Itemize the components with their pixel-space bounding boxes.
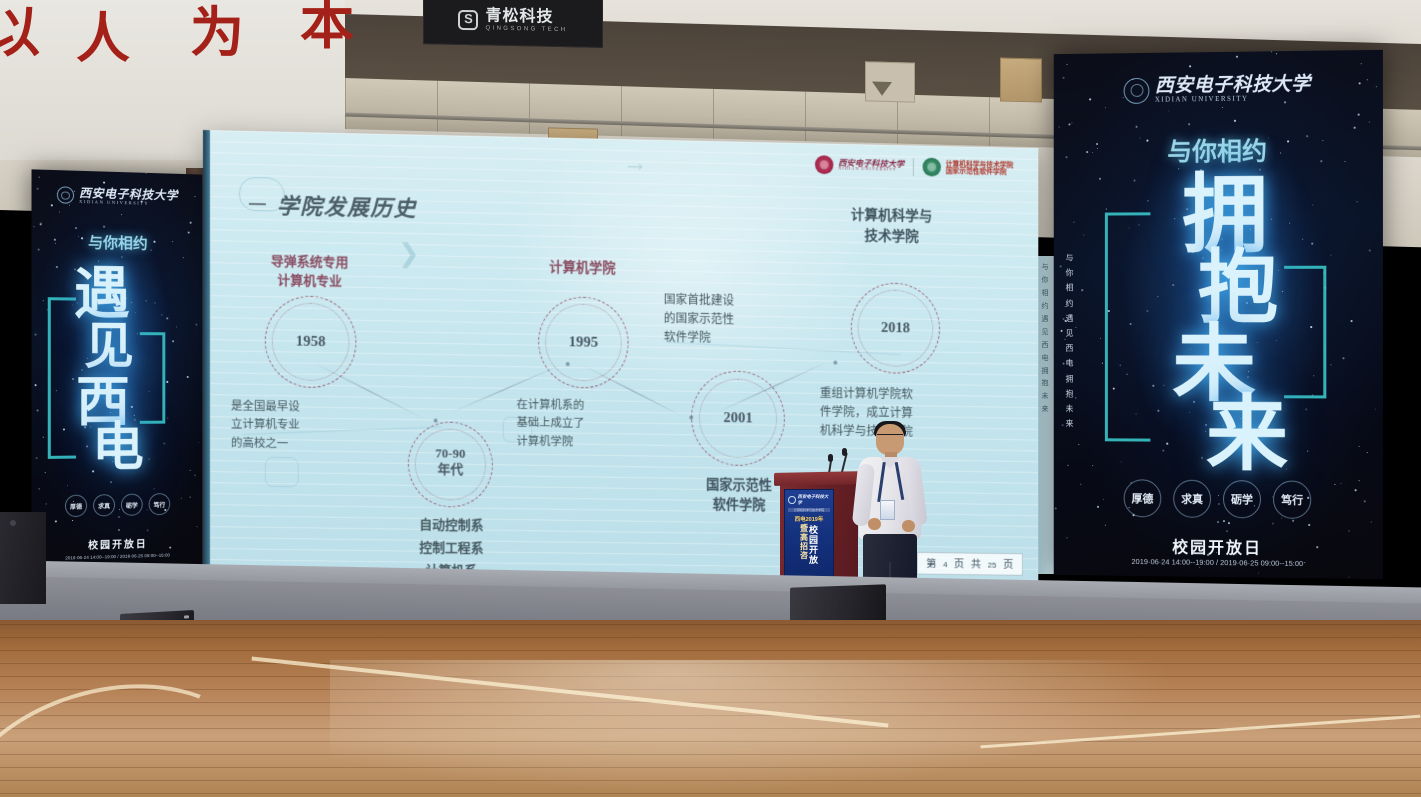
right-strip-text: 与你相约遇见西电拥抱未来 [1038,262,1052,417]
node-5-year: 2018 [851,320,940,338]
star-dot [167,418,168,419]
star-dot [1257,342,1258,343]
star-dot [196,526,197,527]
star-dot [1226,530,1228,532]
star-dot [43,437,44,438]
star-dot [161,314,162,315]
vertical-char: 你 [1066,266,1074,281]
star-dot [1236,56,1238,58]
node-5-heading: 计算机科学与技术学院 [814,204,969,248]
star-dot [1067,465,1068,466]
star-dot [39,177,40,178]
motto-badge-2: 砺学 [1223,480,1261,518]
deco-hexagon-1 [265,457,299,487]
star-dot [1258,573,1259,574]
star-dot [1312,204,1313,205]
star-dot [1083,235,1084,236]
deco-arrow-2: ❯ [398,238,420,269]
star-dot [56,266,58,268]
slogan-char-1: 人 [76,12,130,66]
star-dot [43,300,44,301]
vertical-char: 与 [1042,262,1049,275]
vertical-char: 见 [1042,327,1049,340]
star-dot [1292,520,1294,522]
page-total-prefix: 共 [971,557,981,572]
banner-right-tagline: 与你相约 [1054,130,1383,169]
xidian-seal-icon [815,155,833,174]
banner-right-logo: 西安电子科技大学 XIDIAN UNIVERSITY [1054,74,1383,105]
podium-year-line: 西电2019年 [795,515,824,523]
star-dot [51,204,53,206]
star-dot [1276,53,1277,54]
banner-right-bracket-right [1284,266,1326,399]
star-dot [1271,51,1272,52]
star-dot [1166,443,1168,445]
star-dot [1178,168,1179,169]
star-dot [86,445,88,447]
star-dot [1162,450,1164,452]
amplifier-indicator [10,520,16,526]
star-dot [1311,243,1313,245]
text-line: 计算机学院 [517,432,654,452]
star-dot [187,376,189,378]
slide-logo-university: 西安电子科技大学 XIDIAN UNIVERSITY [815,155,904,176]
text-line: 计算机专业 [235,271,384,293]
star-dot [166,381,168,383]
star-dot [1369,250,1371,252]
vertical-char: 校 [809,525,818,535]
star-dot [198,442,199,443]
gymnasium-scene: 以 人 为 本 青松科技 QINGSONG TECH 与你相约遇见西电共创未来 … [0,0,1421,797]
text-line: 的高校之一 [231,433,370,453]
banner-left-headline-char-1: 见 [84,322,134,370]
node-3-body: 在计算机系的基础上成立了计算机学院 [517,395,654,452]
star-dot [1234,120,1236,122]
vertical-char: 电 [1066,356,1074,371]
railing-segment [897,94,989,149]
star-dot [1174,218,1175,219]
node-1-heading: 导弹系统专用计算机专业 [235,253,384,293]
xidian-seal-icon [1124,77,1150,103]
node-4-heading: 国家首批建设的国家示范性软件学院 [664,290,810,349]
school-seal-icon [923,158,941,177]
star-dot [69,205,70,206]
vertical-char: 未 [1066,401,1074,416]
star-dot [1367,452,1368,453]
star-dot [1349,530,1350,531]
star-dot [1158,411,1159,412]
star-dot [1073,222,1074,223]
motto-badge-2: 砺学 [121,494,143,516]
vertical-char: 来 [1042,404,1049,417]
xidian-seal-icon [788,496,796,504]
gym-door-2[interactable] [1000,57,1042,102]
wall-panel-2 [865,61,915,102]
star-dot [146,300,147,301]
star-dot [1271,219,1272,220]
vertical-char: 咨 [800,552,808,561]
slide-logo-university-en: XIDIAN UNIVERSITY [838,167,904,173]
star-dot [1358,114,1360,116]
text-line: 的国家示范性 [664,309,810,331]
page-indicator: 第 4 页 共 25 页 [916,552,1022,576]
banner-left-bracket-left [48,297,76,459]
star-dot [72,520,73,521]
sponsor-name-en: QINGSONG TECH [485,26,567,34]
floor-plank-line [0,650,1421,651]
page-suffix: 页 [1003,557,1013,572]
vertical-char: 遇 [1042,314,1049,327]
star-dot [55,520,57,522]
star-dot [1121,461,1122,462]
slide-logo-school: 计算机科学与技术学院 国家示范性软件学院 [923,158,1014,179]
star-dot [67,485,68,486]
star-dot [1351,320,1353,322]
motto-badge-1: 求真 [93,494,115,516]
amplifier-left [0,512,46,604]
railing-segment [437,81,529,136]
star-dot [121,214,122,215]
text-line: 自动控制系 [396,515,507,539]
glasses-icon [877,434,903,439]
star-dot [146,173,147,174]
star-dot [39,488,40,489]
wall-slogan-banner: 以 人 为 本 [0,0,345,70]
star-dot [1081,289,1083,291]
star-dot [37,409,39,411]
star-dot [1369,122,1370,123]
node-2-year: 70-90年代 [408,445,493,479]
star-dot [1305,408,1307,410]
text-line: 立计算机专业 [231,415,370,435]
star-dot [75,227,77,229]
banner-left-bracket-right [140,332,166,424]
railing-segment [345,78,437,133]
vertical-char: 你 [1042,275,1049,288]
star-dot [1201,457,1203,459]
railing-segment [621,86,713,141]
star-dot [195,324,197,326]
vertical-char: 相 [1042,288,1049,301]
text-line: 国家首批建设 [664,290,810,312]
star-dot [147,529,149,531]
star-dot [1354,127,1356,129]
vertical-char: 见 [1066,326,1074,341]
vertical-char: 拥 [1066,371,1074,386]
deco-arrow-1: → [623,147,648,178]
speaker-head [876,424,904,455]
vertical-char: 拥 [1042,366,1049,379]
star-dot [1105,525,1106,526]
star-dot [1067,64,1068,65]
star-dot [1188,123,1190,125]
star-dot [110,481,112,483]
star-dot [121,256,123,258]
star-dot [1078,444,1079,445]
star-dot [1357,201,1358,202]
star-dot [1307,451,1308,452]
star-dot [163,442,165,444]
star-dot [1228,522,1230,524]
podium-university-cn: 西安电子科技大学 [798,494,830,506]
text-line: 是全国最早设 [231,396,370,417]
page-current: 4 [943,560,947,569]
vertical-char: 遇 [1066,311,1074,326]
vertical-char: 放 [809,555,818,565]
star-dot [1099,178,1101,180]
star-dot [45,472,46,473]
star-dot [135,312,136,313]
node-2: 70-90年代 [408,421,493,508]
banner-left-headline-char-3: 电 [92,424,144,475]
node-4-year: 2001 [691,410,785,428]
star-dot [1361,63,1362,64]
star-dot [1068,123,1070,125]
star-dot [1359,446,1360,447]
vertical-char: 相 [1066,281,1074,296]
vertical-char: 开 [809,545,818,555]
node-3-year: 1995 [538,334,628,352]
star-dot [1375,409,1376,410]
star-dot [190,470,191,471]
banner-left: 西安电子科技大学 XIDIAN UNIVERSITY 与你相约 遇 见 西 电 … [32,169,203,574]
star-dot [166,317,168,319]
node-3: 1995 [538,296,628,389]
banner-right-vertical-text: 与你相约遇见西电拥抱未来 [1062,250,1078,431]
star-dot [1152,385,1154,387]
node-1-year: 1958 [265,333,356,352]
star-dot [1302,239,1303,240]
star-dot [118,516,120,518]
text-line: 软件学院 [664,328,810,349]
star-dot [103,182,105,184]
motto-badge-0: 厚德 [65,495,87,518]
banner-left-mottos: 厚德求真砺学笃行 [32,492,203,517]
star-dot [1157,296,1158,297]
star-dot [1308,524,1310,526]
star-dot [40,223,42,225]
star-dot [1330,255,1331,256]
star-dot [1217,521,1218,523]
star-dot [34,226,35,227]
node-3-heading: 计算机学院 [509,258,656,280]
text-line: 70-90 [408,445,493,462]
node-1: 1958 [265,295,356,388]
podium-logo: 西安电子科技大学 [788,494,830,506]
star-dot [1168,110,1169,111]
star-dot [195,475,196,476]
vertical-char: 西 [1042,340,1049,353]
star-dot [1342,357,1344,359]
star-dot [1106,209,1107,210]
podium-col-sub: 暨高招咨 [800,525,808,565]
motto-badge-0: 厚德 [1124,479,1162,517]
vertical-char: 与 [1066,250,1074,265]
star-dot [1172,284,1174,286]
slogan-char-3: 本 [300,0,354,52]
vertical-char: 来 [1066,416,1074,431]
star-dot [1199,567,1200,568]
star-dot [1189,65,1191,67]
star-dot [1289,223,1290,224]
xidian-seal-icon [57,186,74,204]
page-total: 25 [988,561,997,570]
vertical-char: 园 [809,535,818,545]
floor-plank-line [0,624,1421,625]
connector-dot-4 [833,361,837,365]
star-dot [1278,270,1279,271]
text-line: 在计算机系的 [517,395,654,415]
star-dot [134,415,135,416]
text-line: 技术学院 [814,225,969,249]
slogan-char-2: 为 [190,6,244,60]
floor-plank-line [0,637,1421,638]
text-line: 重组计算机学院软 [820,384,975,405]
slide-title: 学院发展历史 [249,188,417,223]
title-dash-icon [249,203,266,205]
star-dot [1276,340,1277,341]
slide-logo-school-line2: 国家示范性软件学院 [946,167,1014,175]
text-line: 基础上成立了 [517,413,654,433]
vertical-char: 约 [1042,301,1049,314]
star-dot [131,302,132,303]
star-dot [1272,523,1274,525]
banner-right: 西安电子科技大学 XIDIAN UNIVERSITY 与你相约 拥 抱 未 来 … [1054,50,1383,579]
star-dot [1222,107,1223,108]
vertical-char: 电 [1042,353,1049,366]
banner-right-mottos: 厚德求真砺学笃行 [1054,479,1383,520]
podium-main-text: 校园开放 暨高招咨 [800,525,818,565]
star-dot [1136,126,1138,128]
slogan-char-0: 以 [0,6,40,60]
railing-segment [713,89,805,144]
node-4: 2001 [691,370,785,466]
text-line: 计算机学院 [509,258,656,280]
star-dot [190,222,192,224]
star-dot [35,334,37,336]
star-dot [1330,364,1331,365]
speaker-badge [880,500,895,520]
star-dot [1071,122,1072,123]
star-dot [1092,465,1093,466]
star-dot [1147,200,1148,201]
podium-col-main: 校园开放 [809,525,818,565]
star-dot [35,384,37,386]
banner-left-tagline: 与你相约 [32,230,203,254]
logo-divider [913,158,914,176]
banner-right-bracket-left [1105,212,1150,441]
banner-left-headline-char-0: 遇 [74,267,130,322]
node-1-body: 是全国最早设立计算机专业的高校之一 [231,396,370,453]
star-dot [155,302,156,303]
star-dot [1223,520,1225,522]
star-dot [183,257,184,258]
node-5: 2018 [851,282,940,374]
slide-title-text: 学院发展历史 [277,189,417,224]
star-dot [1100,338,1101,339]
page-mid: 页 [954,556,964,571]
microphone-head-2 [828,454,833,462]
star-dot [176,326,177,327]
star-dot [1163,385,1164,386]
star-dot [118,529,119,531]
star-dot [1349,577,1350,578]
vertical-char: 未 [1042,391,1049,404]
speaker-hand-right [902,520,915,532]
vertical-char: 抱 [1066,386,1074,401]
motto-badge-1: 求真 [1173,480,1211,518]
star-dot [1105,107,1106,108]
star-dot [1059,126,1060,127]
star-dot [1134,180,1136,182]
text-line: 控制工程系 [396,537,507,561]
star-dot [103,226,105,228]
vertical-char: 抱 [1042,378,1049,391]
motto-badge-3: 笃行 [149,493,171,515]
screen-left-edge [203,130,210,582]
vertical-char: 西 [1066,341,1074,356]
vertical-char: 约 [1066,296,1074,311]
speaker-hand-left [868,518,881,530]
banner-right-university-cn: 西安电子科技大学 [1155,75,1311,97]
star-dot [59,212,60,213]
qingsong-logo-icon [458,10,478,30]
sponsor-name-cn: 青松科技 [485,9,567,28]
star-dot [131,406,133,408]
star-dot [154,488,155,489]
motto-badge-3: 笃行 [1273,480,1311,518]
star-dot [1102,363,1103,364]
podium-school-line: 计算机科学与技术学院 [788,508,830,512]
star-dot [149,459,150,460]
sponsor-sign: 青松科技 QINGSONG TECH [423,0,603,48]
star-dot [36,457,38,459]
text-line: 年代 [408,461,493,478]
banner-right-headline-char-3: 来 [1206,396,1288,475]
star-dot [172,340,174,342]
star-dot [1371,522,1372,523]
star-dot [137,333,138,334]
